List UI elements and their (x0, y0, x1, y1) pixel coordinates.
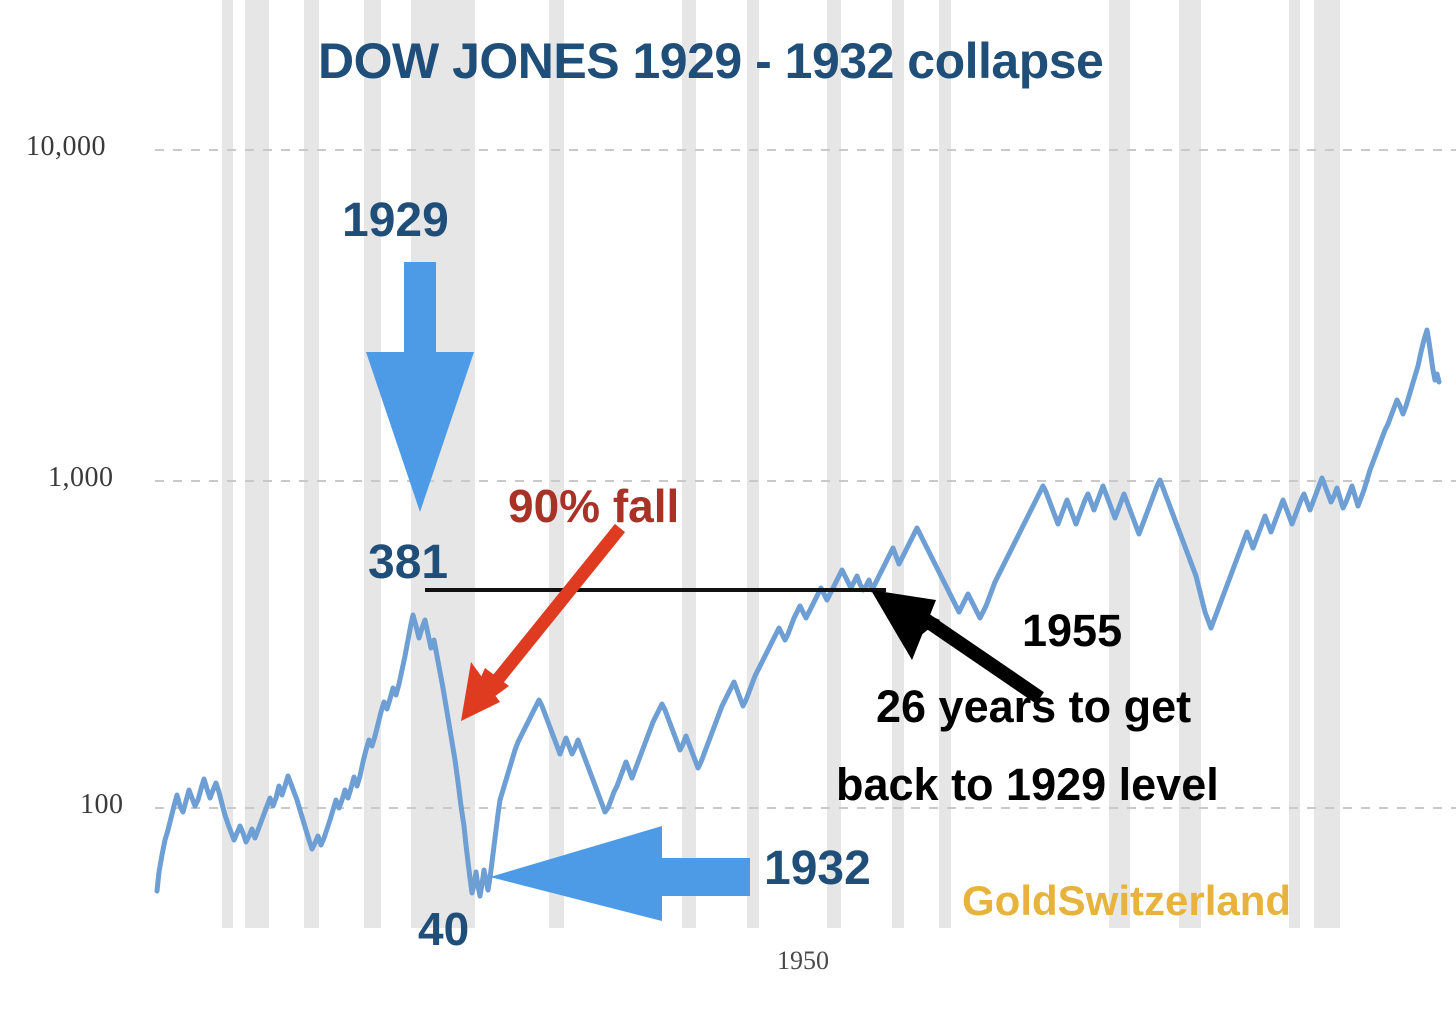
y-axis-tick-10000: 10,000 (26, 133, 106, 161)
annotation-fall-percent: 90% fall (508, 483, 679, 529)
annotation-recovery-year: 1955 (1022, 608, 1122, 653)
annotation-peak-year: 1929 (342, 197, 449, 245)
annotation-recovery-line-2: back to 1929 level (836, 762, 1219, 807)
y-axis-tick-1000: 1,000 (48, 464, 114, 492)
x-axis-tick-1950: 1950 (777, 948, 829, 974)
annotation-text-layer: DOW JONES 1929 - 1932 collapse 10,000 1,… (0, 0, 1456, 1016)
y-axis-tick-100: 100 (80, 791, 124, 819)
annotation-trough-year: 1932 (764, 845, 871, 893)
annotation-trough-value: 40 (418, 906, 469, 952)
chart-container: DOW JONES 1929 - 1932 collapse 10,000 1,… (0, 0, 1456, 1016)
brand-watermark: GoldSwitzerland (962, 880, 1291, 922)
annotation-peak-value: 381 (368, 539, 448, 587)
annotation-recovery-line-1: 26 years to get (876, 684, 1191, 729)
page-title: DOW JONES 1929 - 1932 collapse (318, 36, 1103, 86)
